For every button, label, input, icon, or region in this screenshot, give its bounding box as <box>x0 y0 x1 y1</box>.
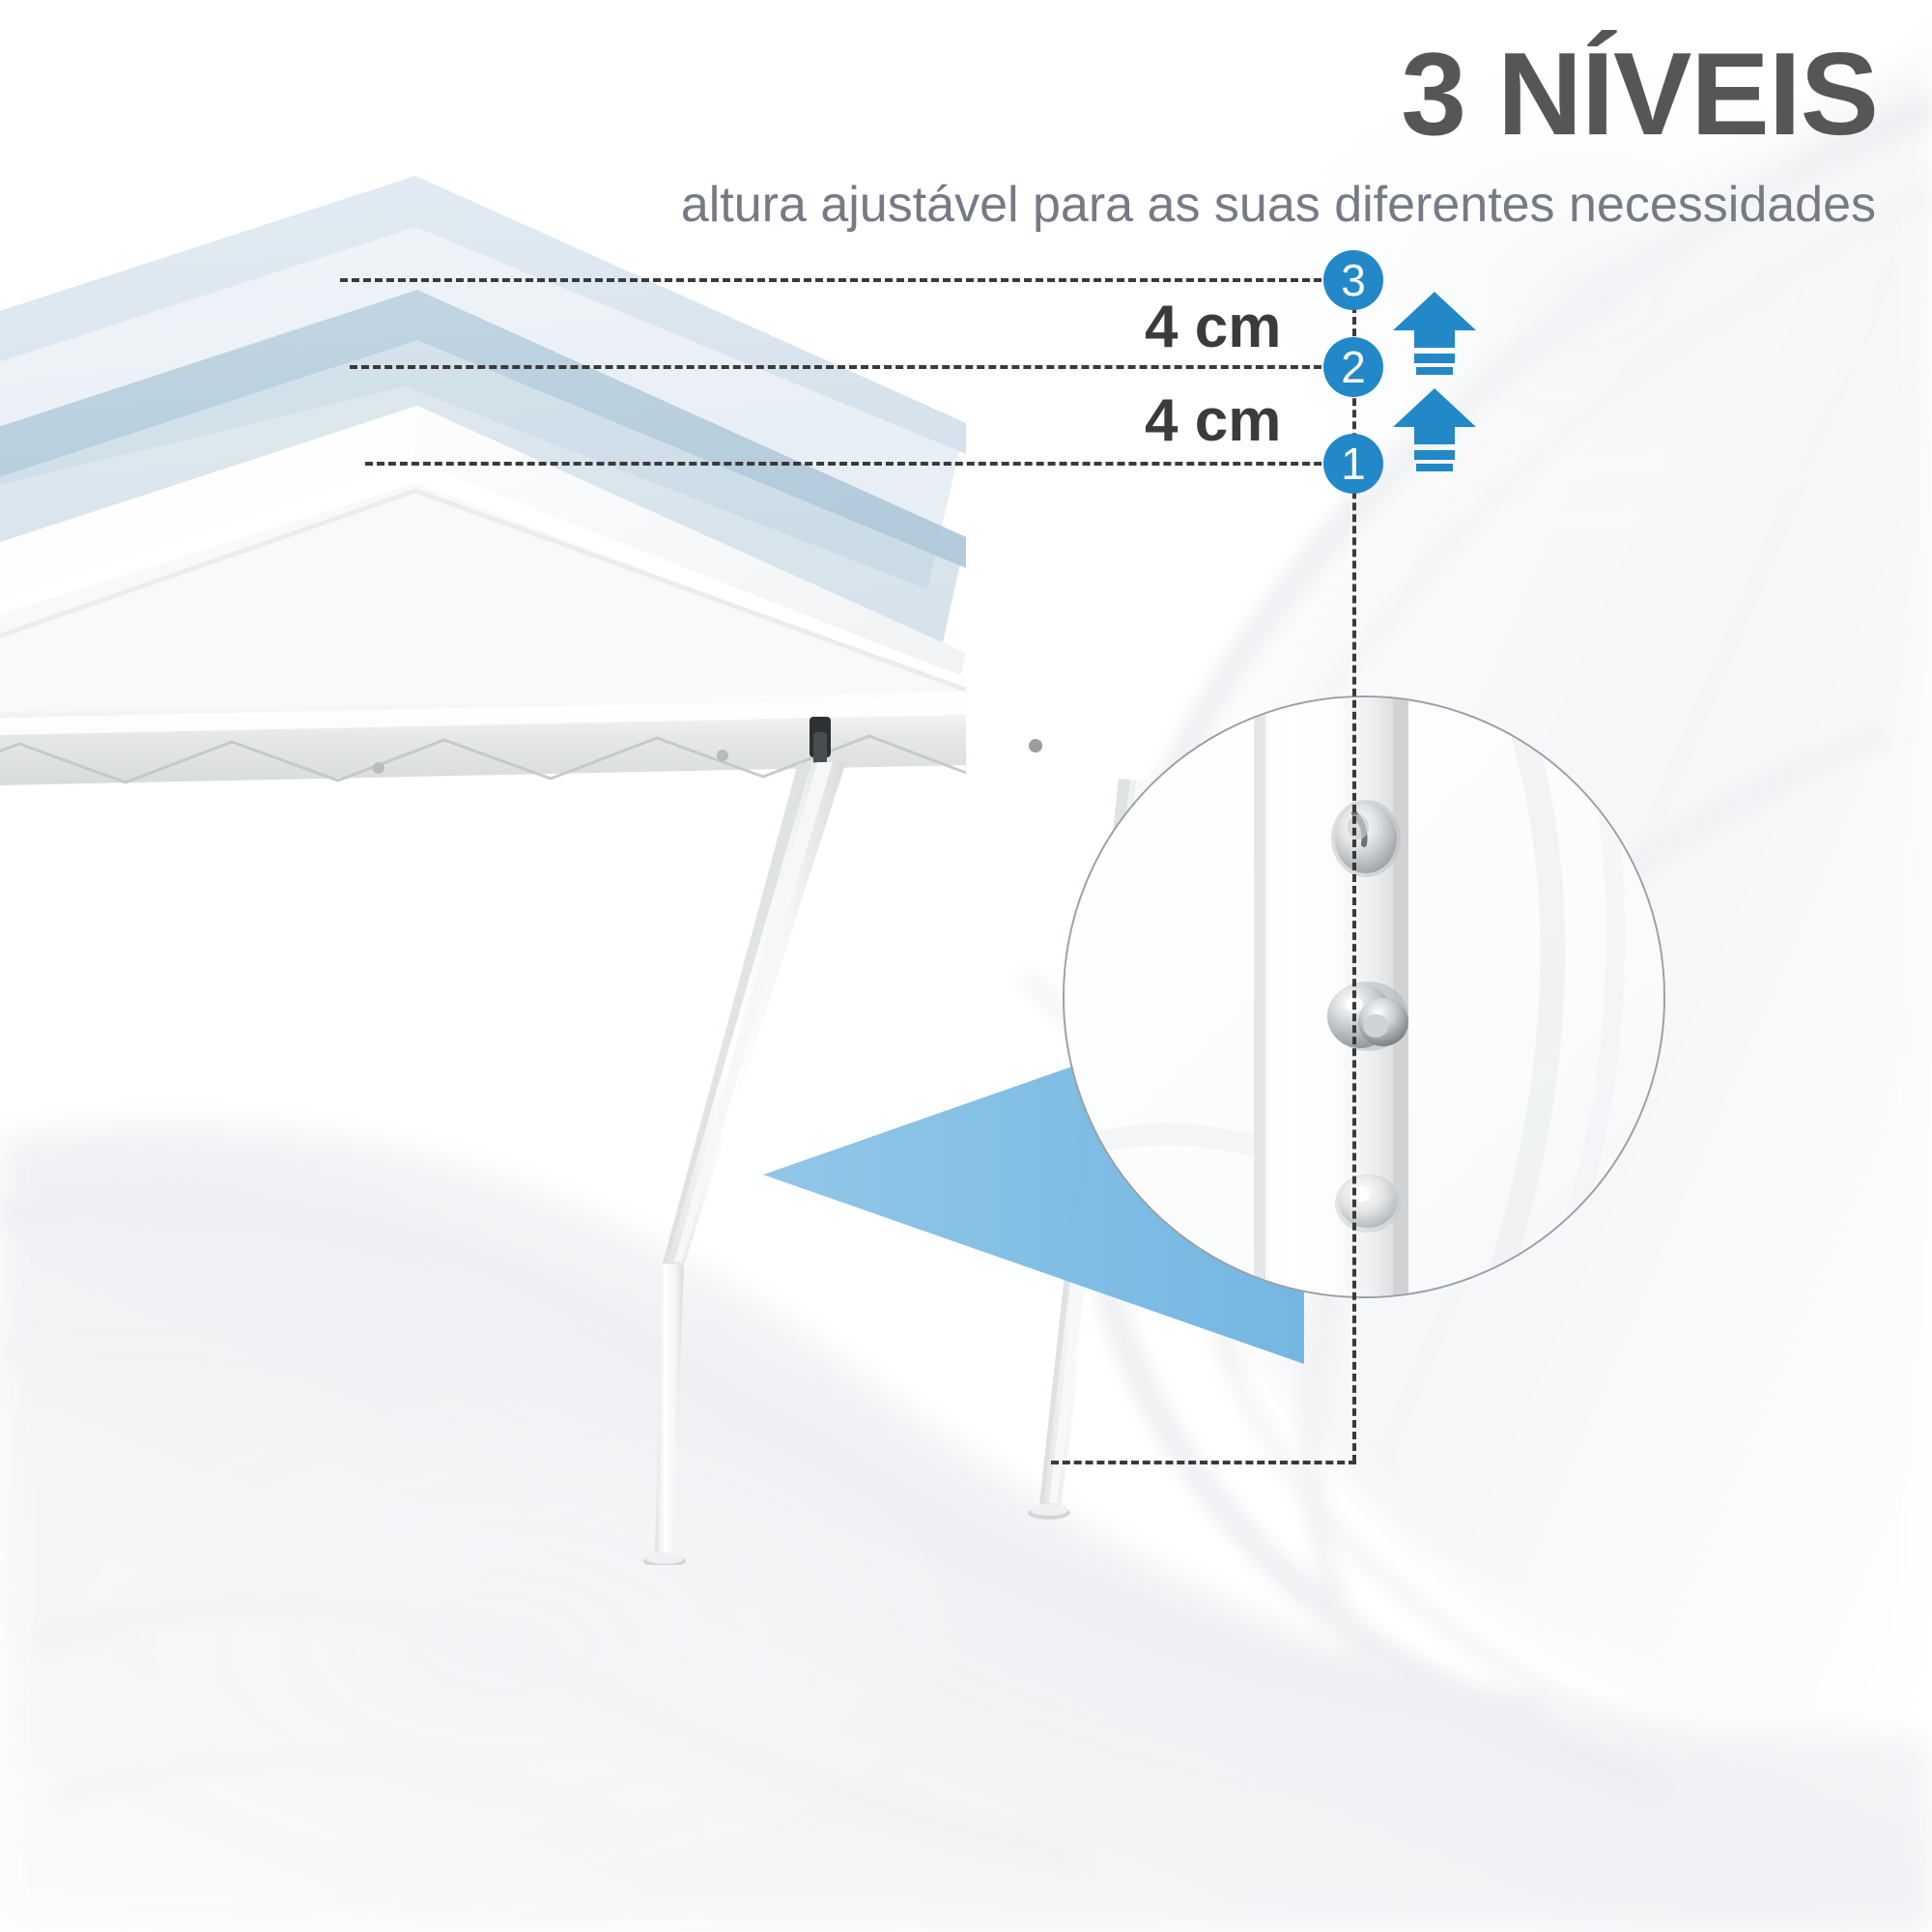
level-badge-2-label: 2 <box>1341 345 1366 389</box>
height-pin-middle <box>1327 981 1408 1051</box>
level-badge-1[interactable]: 1 <box>1323 434 1383 494</box>
level-badge-3[interactable]: 3 <box>1323 250 1383 310</box>
arrow-up-icon-bottom <box>1381 386 1488 475</box>
arrow-up-icon-bottom-svg <box>1381 386 1488 475</box>
guide-line-level-2 <box>350 365 1356 369</box>
infographic-canvas: 3 NÍVEIS altura ajustável para as suas d… <box>0 0 1932 1932</box>
arrow-up-icon-top-svg <box>1381 290 1488 379</box>
gap-label-top: 4 cm <box>1145 293 1281 361</box>
guide-line-level-3 <box>340 278 1356 282</box>
leg-detail-svg <box>1065 697 1663 1296</box>
gap-label-bottom: 4 cm <box>1145 386 1281 455</box>
height-pin-top <box>1331 800 1401 877</box>
level-badge-2[interactable]: 2 <box>1323 337 1383 397</box>
level-badge-1-label: 1 <box>1341 441 1366 486</box>
arrow-up-icon-top <box>1381 290 1488 379</box>
guide-line-foot <box>1051 1461 1356 1464</box>
height-pin-bottom <box>1335 1175 1401 1233</box>
page-title: 3 NÍVEIS <box>1401 35 1878 153</box>
level-badge-3-label: 3 <box>1341 258 1366 302</box>
guide-line-level-1 <box>365 462 1356 466</box>
leg-detail-inset <box>1063 696 1665 1298</box>
